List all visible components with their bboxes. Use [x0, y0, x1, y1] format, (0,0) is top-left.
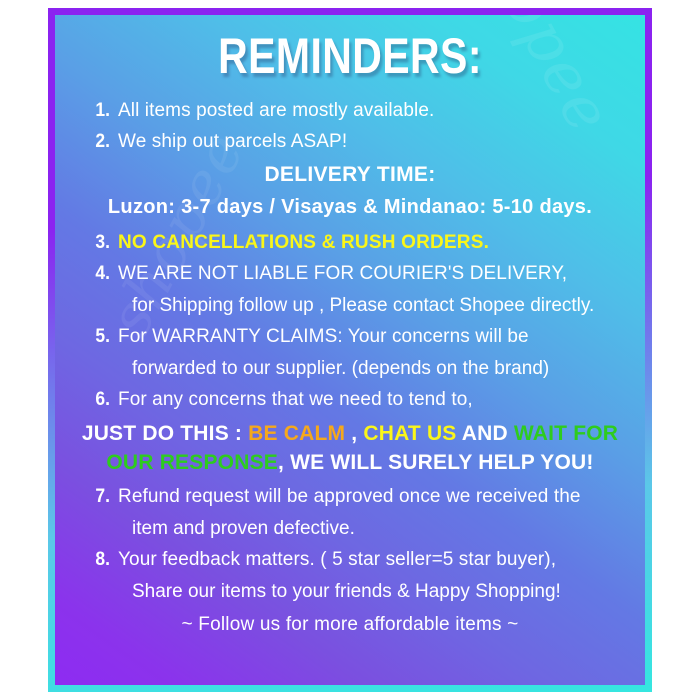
poster-content: REMINDERS: 1. All items posted are mostl… — [55, 15, 645, 636]
list-item-3-text: NO CANCELLATIONS & RUSH ORDERS. — [118, 230, 629, 255]
emphasis-wait-for: WAIT FOR — [514, 422, 618, 445]
list-item-4-text: WE ARE NOT LIABLE FOR COURIER'S DELIVERY… — [118, 261, 629, 286]
emphasis-chat-us: CHAT US — [363, 422, 456, 445]
list-item-5-continuation: forwarded to our supplier. (depends on t… — [71, 356, 629, 381]
emphasis-our-response: OUR RESPONSE — [106, 451, 278, 474]
list-item-5-text: For WARRANTY CLAIMS: Your concerns will … — [118, 324, 629, 349]
emphasis-lead: JUST DO THIS : — [82, 422, 248, 445]
list-item-7-number: 7. — [86, 486, 110, 508]
list-item-7-text: Refund request will be approved once we … — [118, 484, 629, 509]
list-item-7: 7. Refund request will be approved once … — [71, 484, 629, 509]
emphasis-be-calm: BE CALM — [248, 422, 345, 445]
footer-text: ~ Follow us for more affordable items ~ — [71, 614, 629, 636]
list-item-4: 4. WE ARE NOT LIABLE FOR COURIER'S DELIV… — [71, 261, 629, 286]
delivery-time-detail: Luzon: 3-7 days / Visayas & Mindanao: 5-… — [71, 196, 629, 219]
list-item-8: 8. Your feedback matters. ( 5 star selle… — [71, 547, 629, 572]
page-title: REMINDERS: — [121, 31, 579, 82]
list-item-6-text: For any concerns that we need to tend to… — [118, 387, 629, 412]
list-item-8-continuation: Share our items to your friends & Happy … — [71, 579, 629, 604]
list-item-3-number: 3. — [86, 232, 110, 254]
emphasis-tail: , WE WILL SURELY HELP YOU! — [278, 451, 594, 474]
list-item-2-number: 2. — [86, 131, 110, 153]
list-item-5-number: 5. — [86, 326, 110, 348]
list-item-1-number: 1. — [86, 100, 110, 122]
list-item-5: 5. For WARRANTY CLAIMS: Your concerns wi… — [71, 324, 629, 349]
list-item-8-number: 8. — [86, 549, 110, 571]
emphasis-separator: , — [345, 422, 363, 445]
list-item-8-text: Your feedback matters. ( 5 star seller=5… — [118, 547, 629, 572]
list-item-3: 3. NO CANCELLATIONS & RUSH ORDERS. — [71, 230, 629, 255]
list-item-6: 6. For any concerns that we need to tend… — [71, 387, 629, 412]
list-item-1-text: All items posted are mostly available. — [118, 98, 629, 123]
list-item-6-number: 6. — [86, 389, 110, 411]
list-item-4-number: 4. — [86, 263, 110, 285]
emphasis-block: JUST DO THIS : BE CALM , CHAT US AND WAI… — [71, 419, 629, 479]
list-item-7-continuation: item and proven defective. — [71, 516, 629, 541]
emphasis-and: AND — [457, 422, 514, 445]
list-item-2: 2. We ship out parcels ASAP! — [71, 129, 629, 154]
list-item-2-text: We ship out parcels ASAP! — [118, 129, 629, 154]
reminders-poster: shopee shopee REMINDERS: 1. All items po… — [48, 8, 652, 692]
list-item-4-continuation: for Shipping follow up , Please contact … — [71, 293, 629, 318]
delivery-time-heading: DELIVERY TIME: — [71, 163, 629, 187]
list-item-1: 1. All items posted are mostly available… — [71, 98, 629, 123]
poster-panel: shopee shopee REMINDERS: 1. All items po… — [55, 15, 645, 685]
